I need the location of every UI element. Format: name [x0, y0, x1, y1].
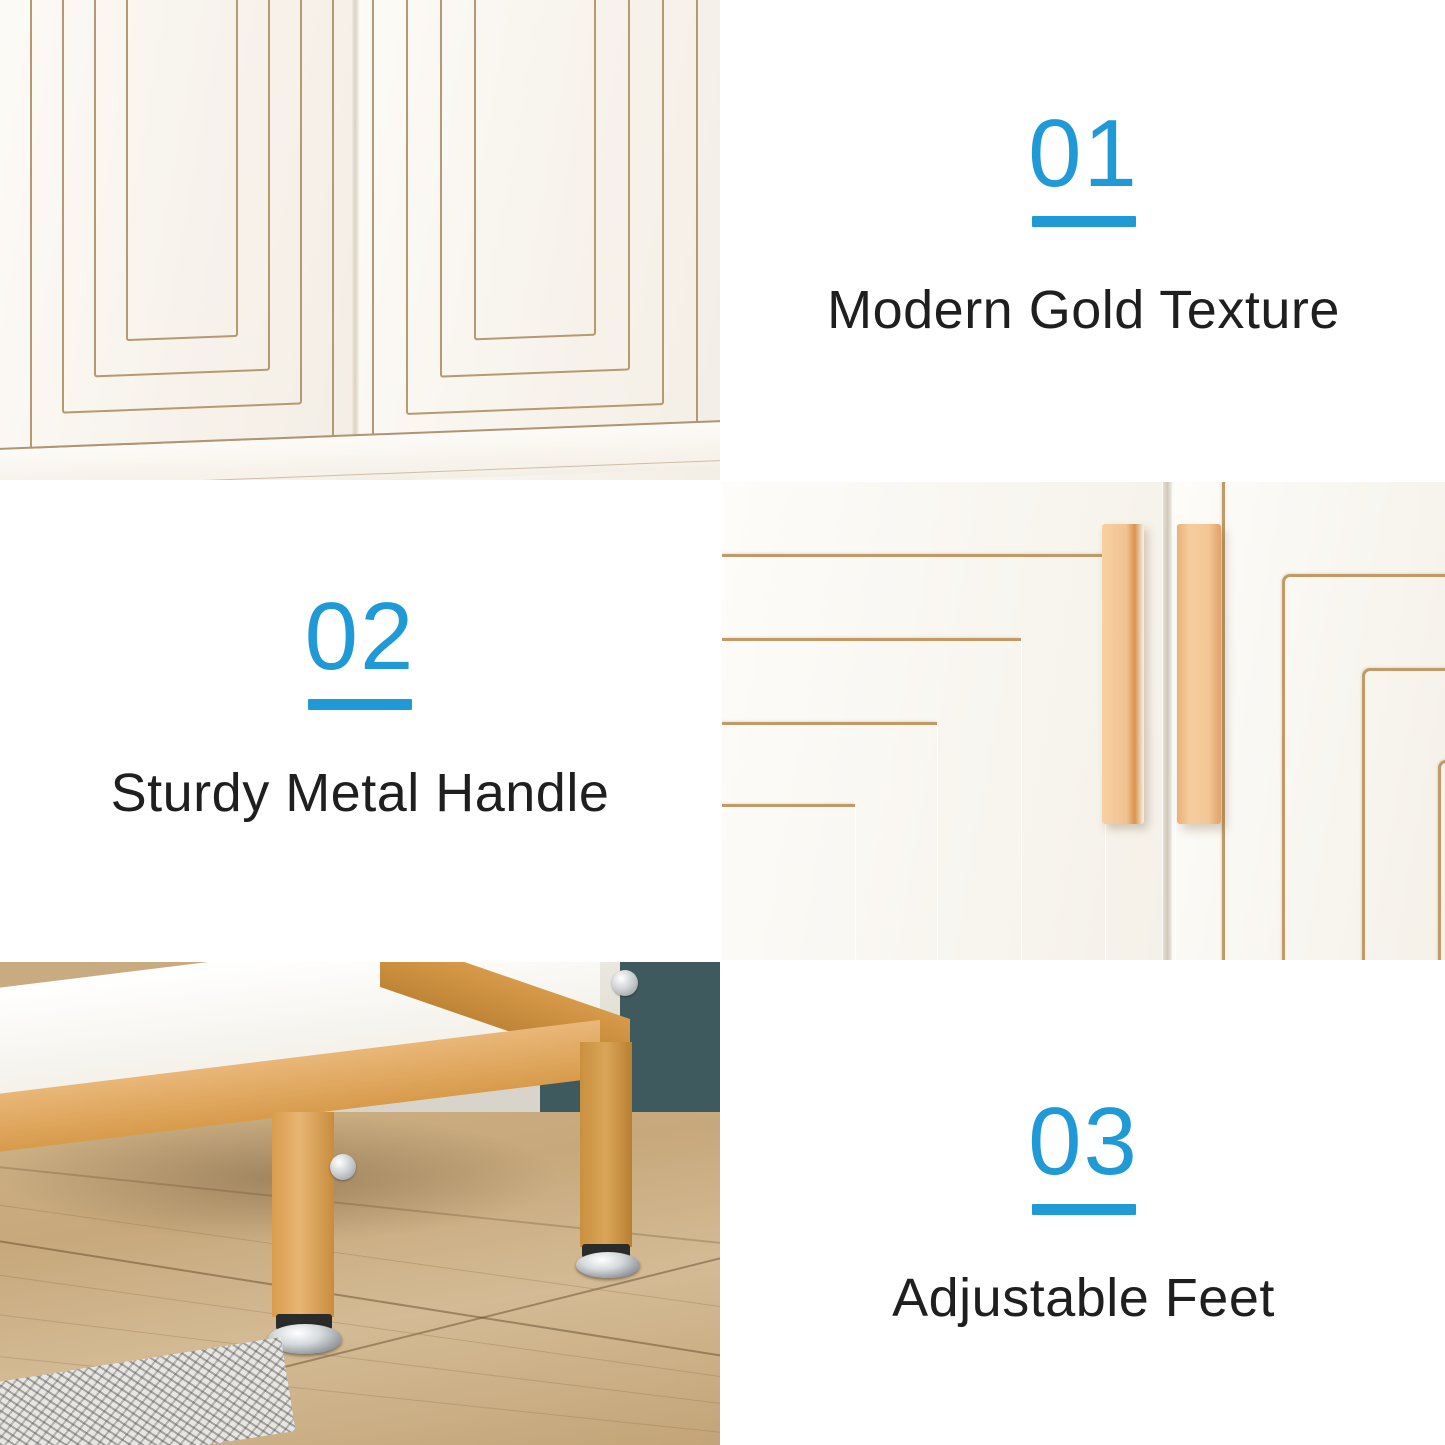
- feature-number-underline-03: [1032, 1204, 1136, 1215]
- feature-caption-03: Adjustable Feet: [892, 1267, 1275, 1329]
- feature-number-01: 01: [1028, 106, 1139, 202]
- infographic-sheet: 01 Modern Gold Texture 02 Sturdy Metal H…: [0, 0, 1445, 1445]
- adjustable-foot-back: [576, 1252, 640, 1278]
- feature-number-block-02: 02: [305, 589, 416, 710]
- gold-groove-frame: [474, 0, 596, 340]
- feature-number-block-01: 01: [1028, 106, 1139, 227]
- feature-callout-02: 02 Sturdy Metal Handle: [0, 482, 720, 960]
- leg-screw: [612, 970, 638, 996]
- photo-cabinet-doors: [0, 0, 720, 480]
- gold-step-line: [722, 804, 855, 960]
- feature-callout-03: 03 Adjustable Feet: [722, 962, 1445, 1445]
- feature-number-02: 02: [305, 589, 416, 685]
- feature-callout-01: 01 Modern Gold Texture: [722, 0, 1445, 480]
- gold-step-line: [1438, 760, 1445, 960]
- gold-step-line: [1362, 668, 1445, 960]
- photo-adjustable-feet: [0, 962, 720, 1445]
- cabinet-handle-right[interactable]: [1177, 524, 1221, 824]
- cabinet-leg-front: [272, 1112, 334, 1317]
- feature-number-underline-02: [308, 699, 412, 710]
- leg-screw: [330, 1154, 356, 1180]
- photo-metal-handle: [722, 482, 1445, 960]
- door-seam: [352, 0, 359, 480]
- feature-number-block-03: 03: [1028, 1094, 1139, 1215]
- feature-number-underline-01: [1032, 216, 1136, 227]
- feature-caption-02: Sturdy Metal Handle: [111, 762, 610, 824]
- feature-number-03: 03: [1028, 1094, 1139, 1190]
- feature-caption-01: Modern Gold Texture: [827, 279, 1340, 341]
- cabinet-handle-left[interactable]: [1102, 524, 1144, 824]
- gold-groove-frame: [126, 0, 238, 341]
- cabinet-leg-back: [580, 1042, 632, 1247]
